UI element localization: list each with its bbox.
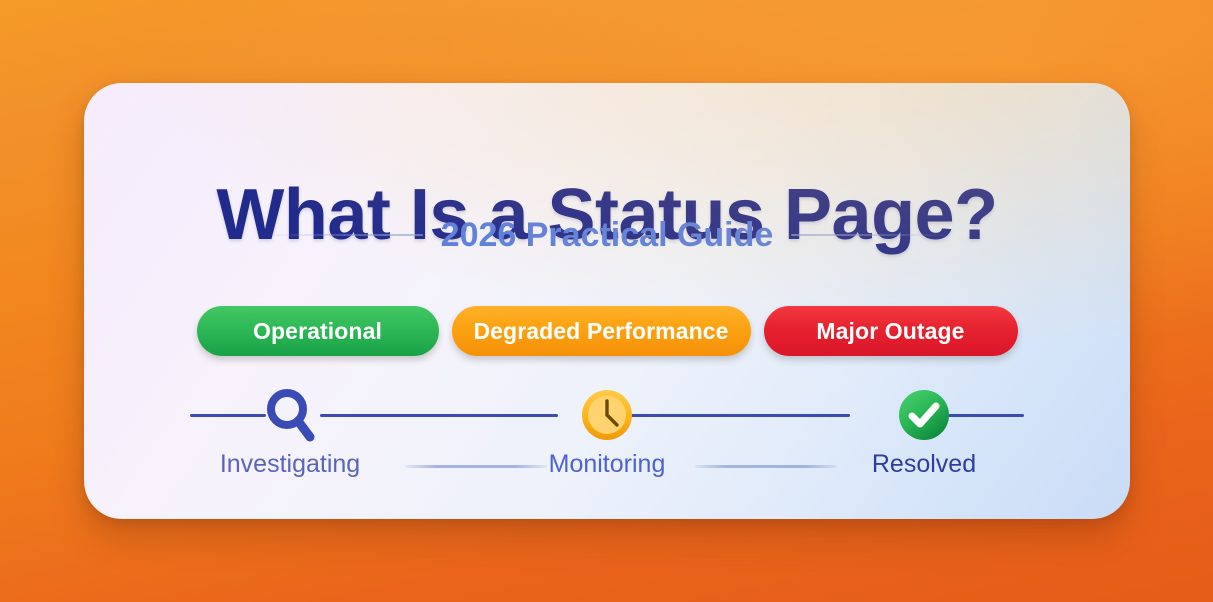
subtitle-row: 2026 Practical Guide [84,213,1130,257]
incident-timeline: Investigating [190,383,1024,483]
timeline-step-label: Monitoring [549,452,666,477]
status-pill-degraded-performance[interactable]: Degraded Performance [452,306,751,356]
timeline-step-label: Investigating [220,452,360,477]
subtitle-rule-right [791,234,951,236]
status-pill-major-outage[interactable]: Major Outage [764,306,1018,356]
status-pill-operational[interactable]: Operational [197,306,439,356]
subtitle-rule-left [263,234,423,236]
check-circle-icon [897,384,951,446]
poster-background: What Is a Status Page? 2026 Practical Gu… [0,0,1213,602]
timeline-steps: Investigating [190,383,1024,483]
timeline-step-resolved[interactable]: Resolved [824,383,1024,477]
page-subtitle: 2026 Practical Guide [441,218,774,252]
timeline-step-investigating[interactable]: Investigating [190,383,390,477]
status-pill-group: Operational Degraded Performance Major O… [84,306,1130,356]
timeline-step-label: Resolved [872,452,976,477]
status-page-card: What Is a Status Page? 2026 Practical Gu… [84,83,1130,519]
timeline-step-monitoring[interactable]: Monitoring [507,383,707,477]
clock-icon [580,384,634,446]
magnifier-icon [263,384,317,446]
